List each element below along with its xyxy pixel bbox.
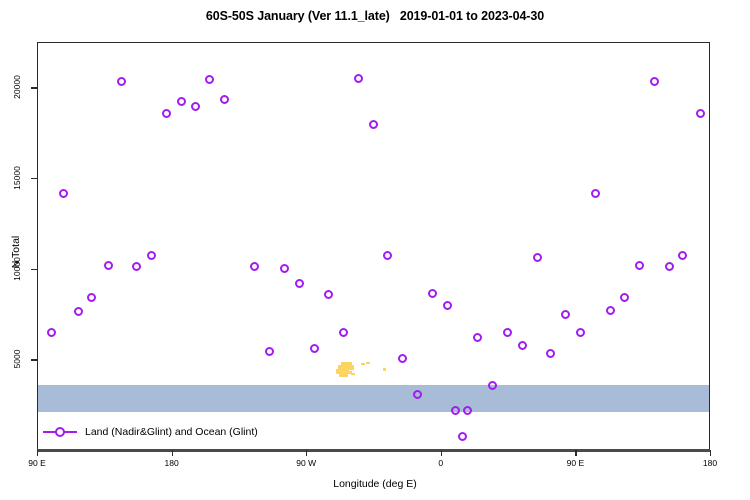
data-point (87, 293, 96, 302)
data-point (473, 333, 482, 342)
legend-item-label: Land (Nadir&Glint) and Ocean (Glint) (85, 426, 258, 438)
x-axis-tick (306, 450, 307, 456)
data-point (295, 279, 304, 288)
data-point (428, 289, 437, 298)
data-point (220, 95, 229, 104)
x-axis-tick (441, 450, 442, 456)
data-point (280, 264, 289, 273)
data-point (635, 261, 644, 270)
data-point (696, 109, 705, 118)
data-point (339, 328, 348, 337)
shaded-band (38, 385, 709, 412)
data-point (576, 328, 585, 337)
plot-area (37, 42, 710, 450)
y-axis-title: N Total (10, 212, 22, 292)
data-point (606, 306, 615, 315)
data-point (561, 310, 570, 319)
data-point (74, 307, 83, 316)
data-point (533, 253, 542, 262)
data-point (310, 344, 319, 353)
y-axis-tick (31, 178, 37, 179)
data-point (546, 349, 555, 358)
data-point (250, 262, 259, 271)
legend-marker-icon (43, 426, 77, 438)
data-point (59, 189, 68, 198)
data-point (162, 109, 171, 118)
data-point (132, 262, 141, 271)
x-axis-tick-label: 0 (438, 458, 443, 468)
data-point (463, 406, 472, 415)
data-point (398, 354, 407, 363)
x-axis-tick-label: 90 E (28, 458, 46, 468)
data-point (369, 120, 378, 129)
data-point (383, 251, 392, 260)
data-point (518, 341, 527, 350)
data-point (678, 251, 687, 260)
data-point (503, 328, 512, 337)
x-axis-line (37, 449, 710, 452)
legend: Land (Nadir&Glint) and Ocean (Glint) (37, 418, 258, 446)
data-point (191, 102, 200, 111)
x-axis-tick-label: 180 (165, 458, 179, 468)
data-point (591, 189, 600, 198)
data-point (443, 301, 452, 310)
x-axis-tick (172, 450, 173, 456)
data-point (451, 406, 460, 415)
land-mass-marking (327, 359, 397, 381)
data-point (177, 97, 186, 106)
x-axis-tick (575, 450, 576, 456)
data-point (354, 74, 363, 83)
y-axis-tick (31, 87, 37, 88)
x-axis-title: Longitude (deg E) (0, 478, 750, 490)
data-point (458, 432, 467, 441)
data-point (104, 261, 113, 270)
x-axis-tick-label: 180 (703, 458, 717, 468)
data-point (265, 347, 274, 356)
y-axis-tick (31, 359, 37, 360)
x-axis-tick-label: 90 W (296, 458, 316, 468)
data-point (650, 77, 659, 86)
data-point (117, 77, 126, 86)
chart-title: 60S-50S January (Ver 11.1_late) 2019-01-… (0, 9, 750, 23)
data-point (665, 262, 674, 271)
x-axis-tick (710, 450, 711, 456)
data-point (324, 290, 333, 299)
data-point (620, 293, 629, 302)
data-point (47, 328, 56, 337)
data-point (205, 75, 214, 84)
y-axis-tick (31, 269, 37, 270)
data-point (147, 251, 156, 260)
x-axis-tick-label: 90 E (567, 458, 585, 468)
x-axis-tick (37, 450, 38, 456)
